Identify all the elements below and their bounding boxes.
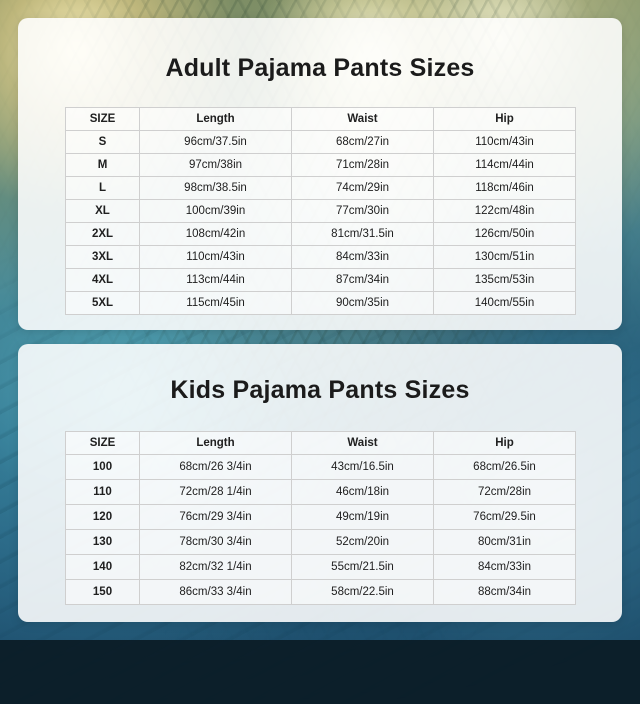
column-header-length: Length bbox=[140, 108, 292, 131]
cell-waist: 81cm/31.5in bbox=[292, 223, 434, 246]
cell-size: 100 bbox=[66, 455, 140, 480]
cell-waist: 43cm/16.5in bbox=[292, 455, 434, 480]
column-header-size: SIZE bbox=[66, 108, 140, 131]
cell-waist: 46cm/18in bbox=[292, 480, 434, 505]
adult-size-table: SIZE Length Waist Hip S 96cm/37.5in 68cm… bbox=[65, 107, 576, 315]
table-row: 140 82cm/32 1/4in 55cm/21.5in 84cm/33in bbox=[66, 555, 576, 580]
table-row: 150 86cm/33 3/4in 58cm/22.5in 88cm/34in bbox=[66, 580, 576, 605]
cell-waist: 90cm/35in bbox=[292, 292, 434, 315]
cell-length: 72cm/28 1/4in bbox=[140, 480, 292, 505]
table-row: 110 72cm/28 1/4in 46cm/18in 72cm/28in bbox=[66, 480, 576, 505]
table-row: L 98cm/38.5in 74cm/29in 118cm/46in bbox=[66, 177, 576, 200]
cell-waist: 77cm/30in bbox=[292, 200, 434, 223]
column-header-hip: Hip bbox=[434, 432, 576, 455]
column-header-waist: Waist bbox=[292, 108, 434, 131]
cell-size: 4XL bbox=[66, 269, 140, 292]
cell-waist: 55cm/21.5in bbox=[292, 555, 434, 580]
cell-hip: 130cm/51in bbox=[434, 246, 576, 269]
table-row: 130 78cm/30 3/4in 52cm/20in 80cm/31in bbox=[66, 530, 576, 555]
cell-hip: 135cm/53in bbox=[434, 269, 576, 292]
table-row: 4XL 113cm/44in 87cm/34in 135cm/53in bbox=[66, 269, 576, 292]
cell-waist: 49cm/19in bbox=[292, 505, 434, 530]
cell-length: 113cm/44in bbox=[140, 269, 292, 292]
table-row: 2XL 108cm/42in 81cm/31.5in 126cm/50in bbox=[66, 223, 576, 246]
adult-chart-title: Adult Pajama Pants Sizes bbox=[18, 18, 622, 83]
cell-size: 5XL bbox=[66, 292, 140, 315]
table-row: XL 100cm/39in 77cm/30in 122cm/48in bbox=[66, 200, 576, 223]
cell-waist: 84cm/33in bbox=[292, 246, 434, 269]
cell-hip: 72cm/28in bbox=[434, 480, 576, 505]
cell-size: XL bbox=[66, 200, 140, 223]
cell-length: 110cm/43in bbox=[140, 246, 292, 269]
kids-size-chart-card: Kids Pajama Pants Sizes SIZE Length Wais… bbox=[18, 344, 622, 622]
cell-size: 120 bbox=[66, 505, 140, 530]
cell-hip: 76cm/29.5in bbox=[434, 505, 576, 530]
table-row: 3XL 110cm/43in 84cm/33in 130cm/51in bbox=[66, 246, 576, 269]
column-header-hip: Hip bbox=[434, 108, 576, 131]
cell-hip: 84cm/33in bbox=[434, 555, 576, 580]
cell-length: 86cm/33 3/4in bbox=[140, 580, 292, 605]
cell-length: 97cm/38in bbox=[140, 154, 292, 177]
cell-length: 98cm/38.5in bbox=[140, 177, 292, 200]
cell-length: 96cm/37.5in bbox=[140, 131, 292, 154]
cell-length: 78cm/30 3/4in bbox=[140, 530, 292, 555]
cell-hip: 126cm/50in bbox=[434, 223, 576, 246]
cell-hip: 122cm/48in bbox=[434, 200, 576, 223]
table-header-row: SIZE Length Waist Hip bbox=[66, 108, 576, 131]
cell-hip: 118cm/46in bbox=[434, 177, 576, 200]
table-row: 120 76cm/29 3/4in 49cm/19in 76cm/29.5in bbox=[66, 505, 576, 530]
cell-size: S bbox=[66, 131, 140, 154]
cell-size: 110 bbox=[66, 480, 140, 505]
cell-waist: 68cm/27in bbox=[292, 131, 434, 154]
cell-waist: 87cm/34in bbox=[292, 269, 434, 292]
cell-hip: 114cm/44in bbox=[434, 154, 576, 177]
table-row: M 97cm/38in 71cm/28in 114cm/44in bbox=[66, 154, 576, 177]
cell-hip: 110cm/43in bbox=[434, 131, 576, 154]
adult-size-chart-card: Adult Pajama Pants Sizes SIZE Length Wai… bbox=[18, 18, 622, 330]
table-row: S 96cm/37.5in 68cm/27in 110cm/43in bbox=[66, 131, 576, 154]
cell-size: 150 bbox=[66, 580, 140, 605]
kids-size-table: SIZE Length Waist Hip 100 68cm/26 3/4in … bbox=[65, 431, 576, 605]
table-header-row: SIZE Length Waist Hip bbox=[66, 432, 576, 455]
cell-waist: 71cm/28in bbox=[292, 154, 434, 177]
cell-waist: 58cm/22.5in bbox=[292, 580, 434, 605]
column-header-length: Length bbox=[140, 432, 292, 455]
cell-length: 108cm/42in bbox=[140, 223, 292, 246]
cell-size: 130 bbox=[66, 530, 140, 555]
cell-length: 68cm/26 3/4in bbox=[140, 455, 292, 480]
cell-size: 2XL bbox=[66, 223, 140, 246]
kids-table-wrapper: SIZE Length Waist Hip 100 68cm/26 3/4in … bbox=[65, 431, 575, 605]
cell-size: L bbox=[66, 177, 140, 200]
cell-hip: 68cm/26.5in bbox=[434, 455, 576, 480]
cell-size: 3XL bbox=[66, 246, 140, 269]
cell-size: 140 bbox=[66, 555, 140, 580]
kids-chart-title: Kids Pajama Pants Sizes bbox=[18, 344, 622, 405]
cell-hip: 88cm/34in bbox=[434, 580, 576, 605]
cell-length: 82cm/32 1/4in bbox=[140, 555, 292, 580]
cell-size: M bbox=[66, 154, 140, 177]
column-header-size: SIZE bbox=[66, 432, 140, 455]
cell-hip: 140cm/55in bbox=[434, 292, 576, 315]
cell-length: 76cm/29 3/4in bbox=[140, 505, 292, 530]
cell-length: 115cm/45in bbox=[140, 292, 292, 315]
cell-waist: 74cm/29in bbox=[292, 177, 434, 200]
table-row: 100 68cm/26 3/4in 43cm/16.5in 68cm/26.5i… bbox=[66, 455, 576, 480]
adult-table-wrapper: SIZE Length Waist Hip S 96cm/37.5in 68cm… bbox=[65, 107, 575, 315]
cell-waist: 52cm/20in bbox=[292, 530, 434, 555]
cell-length: 100cm/39in bbox=[140, 200, 292, 223]
cell-hip: 80cm/31in bbox=[434, 530, 576, 555]
column-header-waist: Waist bbox=[292, 432, 434, 455]
table-row: 5XL 115cm/45in 90cm/35in 140cm/55in bbox=[66, 292, 576, 315]
